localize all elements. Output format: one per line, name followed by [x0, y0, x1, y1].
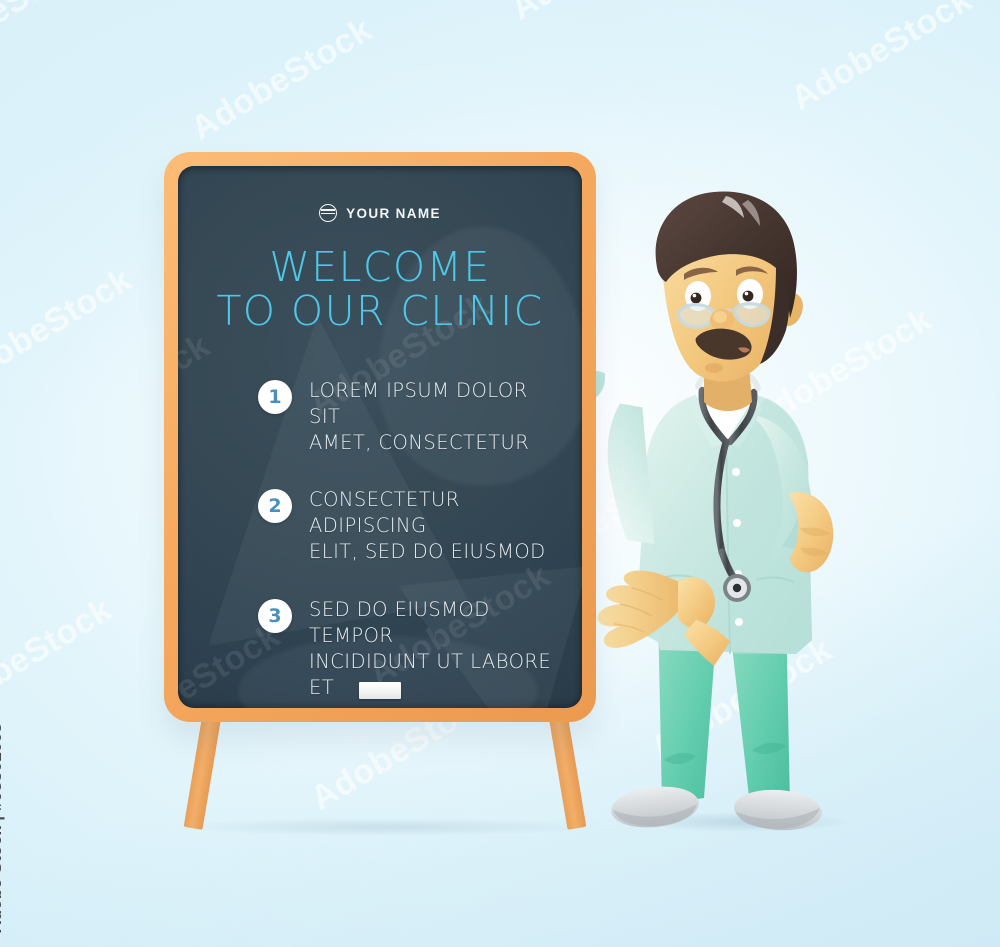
headline-line-1: WELCOME	[269, 243, 490, 291]
bullet-line-1: CONSECTETUR ADIPISCING	[309, 487, 552, 539]
bullet-text: LOREM IPSUM DOLOR SIT AMET, CONSECTETUR	[309, 378, 552, 456]
bullet-text: CONSECTETUR ADIPISCING ELIT, SED DO EIUS…	[309, 487, 552, 565]
doctor-character	[600, 210, 900, 835]
board-ground-shadow	[175, 818, 595, 836]
chalkboard-frame: AdobeStock AdobeStock AdobeStock AdobeSt…	[164, 152, 596, 722]
list-item: 3 SED DO EIUSMOD TEMPOR INCIDIDUNT UT LA…	[258, 597, 552, 701]
brand-name-label: YOUR NAME	[346, 206, 441, 221]
board-content: YOUR NAME WELCOME TO OUR CLINIC 1 LOREM …	[178, 166, 582, 708]
page-title: WELCOME TO OUR CLINIC	[208, 246, 552, 334]
bullet-line-2: ELIT, SED DO EIUSMOD	[309, 539, 552, 565]
chalkboard-surface: AdobeStock AdobeStock AdobeStock AdobeSt…	[178, 166, 582, 708]
doctor-shoes	[609, 783, 823, 834]
bullet-line-1: LOREM IPSUM DOLOR SIT	[309, 378, 552, 430]
circle-lines-logo-icon	[319, 204, 337, 222]
chalk-eraser	[359, 682, 401, 699]
bullet-line-1: SED DO EIUSMOD TEMPOR	[309, 597, 552, 649]
bullet-line-2: INCIDIDUNT UT LABORE ET	[309, 649, 552, 701]
headline-line-2: TO OUR CLINIC	[208, 290, 552, 334]
list-item: 2 CONSECTETUR ADIPISCING ELIT, SED DO EI…	[258, 487, 552, 565]
doctor-head	[656, 191, 803, 381]
brand-lockup: YOUR NAME	[208, 204, 552, 222]
poster-canvas: AdobeStock AdobeStock AdobeStock AdobeSt…	[0, 0, 1000, 947]
bullet-number-badge: 1	[258, 380, 292, 414]
list-item: 1 LOREM IPSUM DOLOR SIT AMET, CONSECTETU…	[258, 378, 552, 456]
bullet-number-badge: 3	[258, 599, 292, 633]
bullet-number-badge: 2	[258, 489, 292, 523]
bullet-text: SED DO EIUSMOD TEMPOR INCIDIDUNT UT LABO…	[309, 597, 552, 701]
stock-attribution-label: Adobe Stock | #98861668	[0, 723, 6, 933]
bullet-list: 1 LOREM IPSUM DOLOR SIT AMET, CONSECTETU…	[208, 378, 552, 701]
bullet-line-2: AMET, CONSECTETUR	[309, 430, 552, 456]
